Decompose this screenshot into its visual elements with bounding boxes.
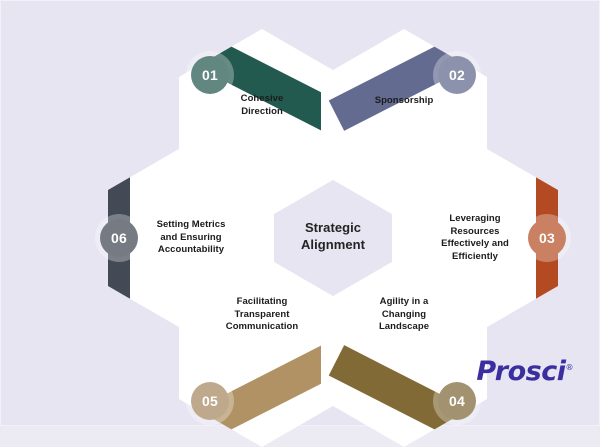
hex-label-04-line1: Agility in a — [335, 296, 473, 309]
badge-05[interactable]: 05 — [191, 382, 229, 420]
badge-03-number: 03 — [539, 230, 555, 246]
hex-label-04-line3: Landscape — [335, 321, 473, 334]
hex-label-05-line2: Transparent — [193, 309, 331, 322]
badge-01-number: 01 — [202, 67, 218, 83]
badge-06[interactable]: 06 — [100, 219, 138, 257]
center-label-line1: Strategic — [264, 219, 402, 236]
infographic-canvas: Cohesive Direction 01 Sponsorship 02 Set… — [0, 0, 600, 426]
hex-label-05-line1: Facilitating — [193, 296, 331, 309]
hex-label-05-line3: Communication — [193, 321, 331, 334]
badge-04-number: 04 — [449, 393, 465, 409]
badge-02-number: 02 — [449, 67, 465, 83]
hex-node-04[interactable]: Agility in a Changing Landscape 04 — [321, 255, 487, 447]
badge-02[interactable]: 02 — [438, 56, 476, 94]
badge-01[interactable]: 01 — [191, 56, 229, 94]
badge-05-number: 05 — [202, 393, 218, 409]
registered-trademark-icon: ® — [566, 363, 574, 372]
badge-06-number: 06 — [111, 230, 127, 246]
prosci-logo: Prosci® — [476, 356, 573, 387]
hex-label-04: Agility in a Changing Landscape — [321, 296, 487, 334]
badge-04[interactable]: 04 — [438, 382, 476, 420]
hex-label-06-line1: Setting Metrics — [122, 219, 260, 232]
center-label-line2: Alignment — [264, 236, 402, 253]
hex-label-03-line1: Leveraging — [406, 213, 544, 226]
prosci-logo-text: Prosci — [476, 356, 565, 387]
hex-label-01-line2: Direction — [193, 106, 331, 119]
hex-label-04-line2: Changing — [335, 309, 473, 322]
badge-03[interactable]: 03 — [528, 219, 566, 257]
